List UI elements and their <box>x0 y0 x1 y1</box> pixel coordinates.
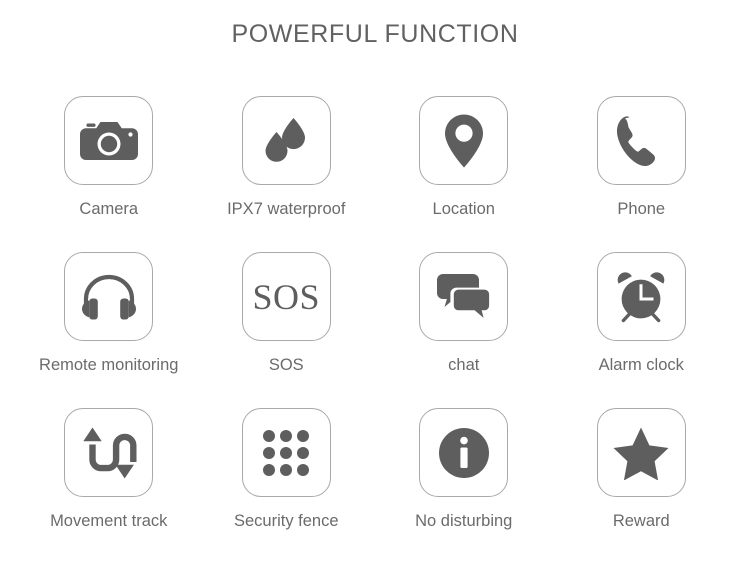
feature-label: IPX7 waterproof <box>227 201 345 218</box>
feature-item-movement-track[interactable]: Movement track <box>20 408 198 564</box>
water-drops-icon <box>260 115 312 167</box>
location-pin-icon <box>443 113 485 169</box>
feature-item-location[interactable]: Location <box>375 96 553 252</box>
feature-tile[interactable] <box>419 96 508 185</box>
feature-label: Movement track <box>50 513 167 530</box>
feature-label: Reward <box>613 513 670 530</box>
dot-grid-icon <box>263 430 309 476</box>
feature-item-sos[interactable]: SOS SOS <box>198 252 376 408</box>
feature-tile[interactable] <box>597 96 686 185</box>
feature-tile[interactable] <box>597 408 686 497</box>
feature-label: SOS <box>269 357 304 374</box>
alarm-clock-icon <box>614 270 668 324</box>
feature-tile[interactable] <box>597 252 686 341</box>
chat-bubbles-icon <box>437 273 491 321</box>
feature-tile[interactable] <box>242 408 331 497</box>
feature-tile[interactable] <box>242 96 331 185</box>
zigzag-arrows-icon <box>81 426 137 480</box>
feature-item-reward[interactable]: Reward <box>553 408 731 564</box>
feature-label: Phone <box>617 201 665 218</box>
feature-tile[interactable] <box>64 408 153 497</box>
feature-grid: Camera IPX7 waterproof Location <box>20 96 730 564</box>
feature-label: Remote monitoring <box>39 357 178 374</box>
feature-label: Security fence <box>234 513 339 530</box>
feature-item-camera[interactable]: Camera <box>20 96 198 252</box>
feature-item-no-disturbing[interactable]: No disturbing <box>375 408 553 564</box>
feature-item-ipx7-waterproof[interactable]: IPX7 waterproof <box>198 96 376 252</box>
phone-handset-icon <box>616 116 666 166</box>
feature-item-phone[interactable]: Phone <box>553 96 731 252</box>
feature-item-security-fence[interactable]: Security fence <box>198 408 376 564</box>
feature-item-alarm-clock[interactable]: Alarm clock <box>553 252 731 408</box>
feature-label: No disturbing <box>415 513 512 530</box>
feature-item-remote-monitoring[interactable]: Remote monitoring <box>20 252 198 408</box>
page-title: POWERFUL FUNCTION <box>0 20 750 49</box>
feature-tile[interactable] <box>64 96 153 185</box>
info-circle-icon <box>438 427 490 479</box>
feature-label: Camera <box>79 201 138 218</box>
feature-label: chat <box>448 357 479 374</box>
camera-icon <box>80 118 138 164</box>
feature-tile[interactable] <box>64 252 153 341</box>
feature-label: Alarm clock <box>599 357 684 374</box>
feature-tile[interactable]: SOS <box>242 252 331 341</box>
feature-tile[interactable] <box>419 408 508 497</box>
feature-label: Location <box>433 201 495 218</box>
sos-text-icon: SOS <box>252 279 320 315</box>
headphones-icon <box>81 273 137 321</box>
feature-tile[interactable] <box>419 252 508 341</box>
feature-item-chat[interactable]: chat <box>375 252 553 408</box>
star-icon <box>613 426 669 480</box>
